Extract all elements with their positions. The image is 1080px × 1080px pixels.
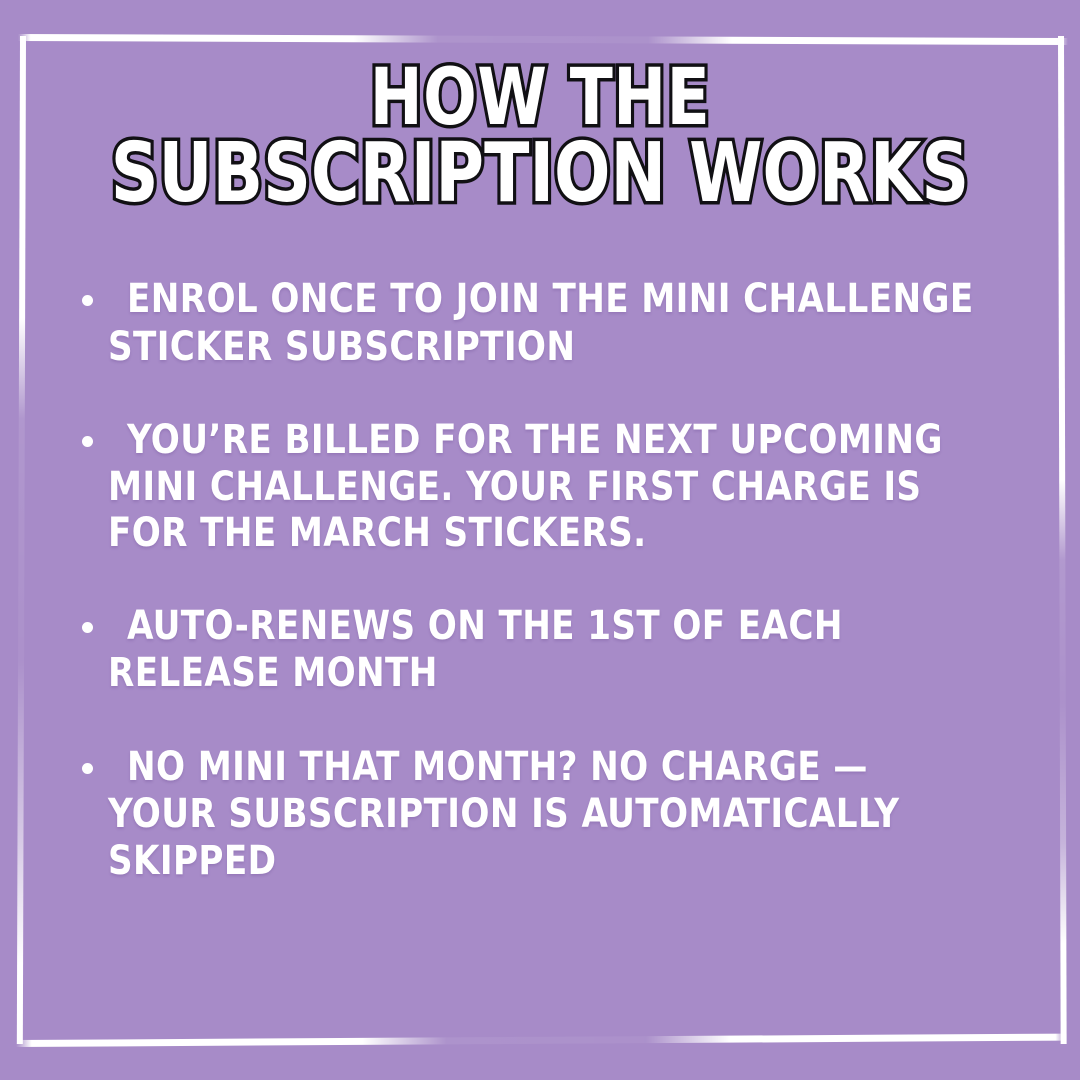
poster-canvas: HOW THE SUBSCRIPTION WORKS ENROL ONCE TO… <box>0 0 1080 1080</box>
list-item: NO MINI THAT MONTH? NO CHARGE — YOUR SUB… <box>56 744 1024 886</box>
list-item: AUTO-RENEWS ON THE 1ST OF EACH RELEASE M… <box>56 603 1024 697</box>
bullet-list: ENROL ONCE TO JOIN THE MINI CHALLENGE ST… <box>56 276 1024 885</box>
list-item-text: AUTO-RENEWS ON THE 1ST OF EACH RELEASE M… <box>108 603 978 697</box>
list-item-text: NO MINI THAT MONTH? NO CHARGE — YOUR SUB… <box>108 744 978 886</box>
list-item-text: ENROL ONCE TO JOIN THE MINI CHALLENGE ST… <box>108 276 978 370</box>
page-title-line-2: SUBSCRIPTION WORKS <box>104 135 975 212</box>
list-item-text: YOU’RE BILLED FOR THE NEXT UPCOMING MINI… <box>108 417 978 557</box>
bullet-dot-icon <box>82 763 93 774</box>
bullet-dot-icon <box>82 436 93 447</box>
bullet-dot-icon <box>82 295 93 306</box>
page-title: HOW THE SUBSCRIPTION WORKS <box>104 62 975 212</box>
poster-content: HOW THE SUBSCRIPTION WORKS ENROL ONCE TO… <box>0 0 1080 1080</box>
page-title-line-1: HOW THE <box>104 62 975 135</box>
list-item: YOU’RE BILLED FOR THE NEXT UPCOMING MINI… <box>56 417 1024 557</box>
list-item: ENROL ONCE TO JOIN THE MINI CHALLENGE ST… <box>56 276 1024 370</box>
bullet-dot-icon <box>82 622 93 633</box>
